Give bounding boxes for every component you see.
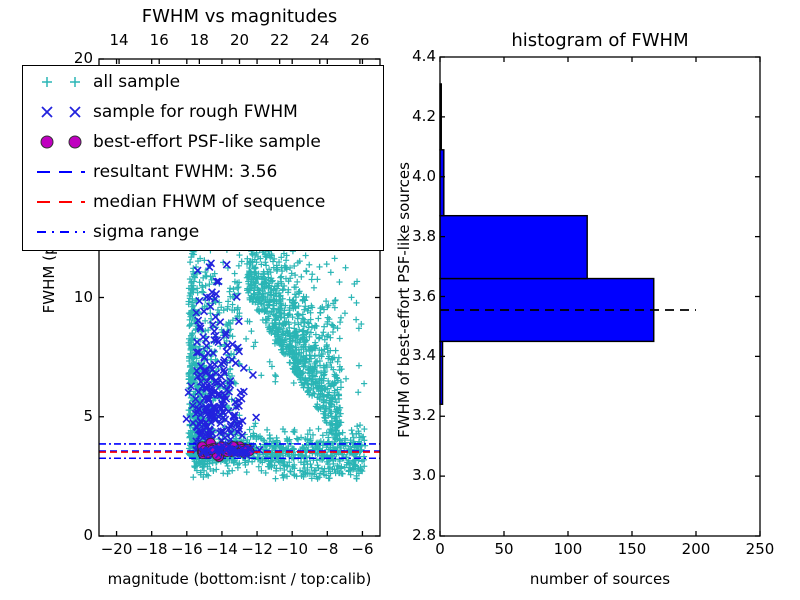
legend-item-label: sample for rough FWHM	[93, 97, 298, 127]
figure-canvas: FWHM vs magnitudes 14161820222426 −20−18…	[0, 0, 800, 600]
legend-item-label: sigma range	[93, 217, 199, 247]
legend-item: resultant FWHM: 3.56	[31, 157, 375, 187]
circle-marker-icon	[31, 127, 93, 157]
legend-item: sample for rough FWHM	[31, 97, 375, 127]
legend: all samplesample for rough FWHMbest-effo…	[22, 65, 384, 251]
legend-item: best-effort PSF-like sample	[31, 127, 375, 157]
dashdot-line-icon	[31, 217, 93, 247]
legend-item: all sample	[31, 67, 375, 97]
cross-marker-icon	[31, 97, 93, 127]
legend-item: sigma range	[31, 217, 375, 247]
dashed-line-icon	[31, 157, 93, 187]
legend-item: median FHWM of sequence	[31, 187, 375, 217]
legend-item-label: resultant FWHM: 3.56	[93, 157, 277, 187]
legend-item-label: all sample	[93, 67, 180, 97]
plus-marker-icon	[31, 67, 93, 97]
dashed-line-icon	[31, 187, 93, 217]
legend-item-label: median FHWM of sequence	[93, 187, 325, 217]
legend-item-label: best-effort PSF-like sample	[93, 127, 321, 157]
